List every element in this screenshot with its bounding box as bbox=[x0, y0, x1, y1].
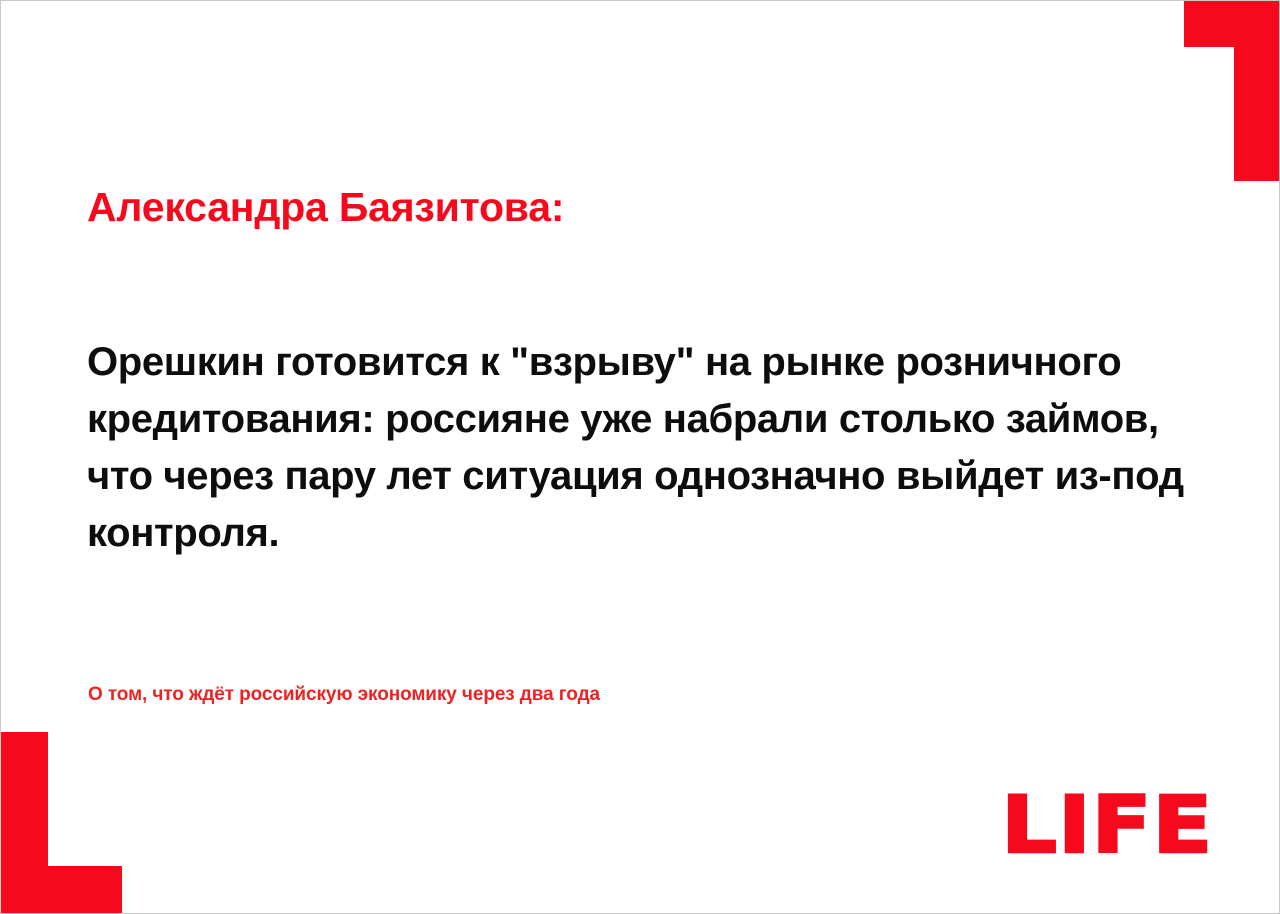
caption-text: О том, что ждёт российскую экономику чер… bbox=[88, 682, 600, 708]
life-logo: LIFE bbox=[1001, 787, 1213, 865]
quote-text: Орешкин готовится к "взрыву" на рынке ро… bbox=[87, 334, 1195, 562]
quote-card: Александра Баязитова: Орешкин готовится … bbox=[0, 0, 1280, 914]
corner-bracket-icon bbox=[1184, 0, 1280, 181]
speaker-name: Александра Баязитова: bbox=[87, 183, 564, 231]
card-content: Александра Баязитова: Орешкин готовится … bbox=[87, 1, 1197, 914]
